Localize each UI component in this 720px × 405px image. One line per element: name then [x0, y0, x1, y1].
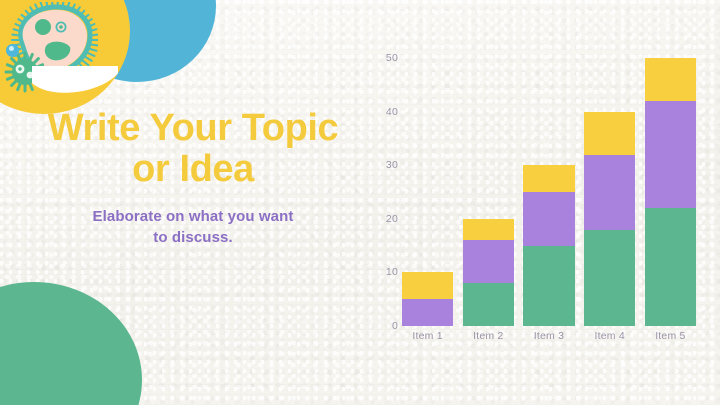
green-circle-decoration: [0, 282, 142, 405]
x-axis-tick-label: Item 2: [463, 330, 514, 342]
stacked-bar[interactable]: [645, 58, 696, 326]
stacked-bar[interactable]: [402, 272, 453, 326]
bar-column[interactable]: [645, 58, 696, 326]
x-axis-tick-label: Item 1: [402, 330, 453, 342]
slide-canvas: Write Your Topic or Idea Elaborate on wh…: [0, 0, 720, 405]
x-axis-tick-label: Item 5: [645, 330, 696, 342]
stacked-bar-chart: 01020304050 Item 1Item 2Item 3Item 4Item…: [372, 58, 702, 358]
title-line-1: Write Your Topic: [48, 107, 339, 149]
subtitle-line-2: to discuss.: [153, 229, 232, 246]
chart-x-axis: Item 1Item 2Item 3Item 4Item 5: [402, 330, 696, 342]
bar-segment[interactable]: [523, 192, 574, 246]
bar-segment[interactable]: [402, 272, 453, 299]
bar-segment[interactable]: [463, 219, 514, 240]
title-line-2: or Idea: [132, 148, 254, 190]
y-axis-tick-label: 20: [386, 213, 398, 225]
bar-segment[interactable]: [523, 246, 574, 326]
bar-segment[interactable]: [645, 208, 696, 326]
bar-segment[interactable]: [584, 230, 635, 326]
stacked-bar[interactable]: [584, 112, 635, 326]
x-axis-tick-label: Item 3: [523, 330, 574, 342]
y-axis-tick-label: 0: [392, 320, 398, 332]
y-axis-tick-label: 50: [386, 52, 398, 64]
small-blue-germ-icon: [6, 44, 19, 57]
page-subtitle: Elaborate on what you want to discuss.: [18, 206, 368, 249]
bar-segment[interactable]: [645, 101, 696, 208]
y-axis-tick-label: 10: [386, 266, 398, 278]
bar-column[interactable]: [463, 58, 514, 326]
white-smile-decoration: [32, 66, 118, 100]
stacked-bar[interactable]: [463, 219, 514, 326]
bar-segment[interactable]: [584, 155, 635, 230]
bar-column[interactable]: [584, 58, 635, 326]
chart-plot-area: [402, 58, 696, 326]
chart-y-axis: 01020304050: [372, 58, 398, 326]
y-axis-tick-label: 30: [386, 159, 398, 171]
text-content-block: Write Your Topic or Idea Elaborate on wh…: [18, 108, 368, 249]
bar-segment[interactable]: [463, 283, 514, 326]
page-title: Write Your Topic or Idea: [18, 108, 368, 190]
subtitle-line-1: Elaborate on what you want: [93, 208, 294, 225]
y-axis-tick-label: 40: [386, 106, 398, 118]
bar-segment[interactable]: [402, 299, 453, 326]
bar-column[interactable]: [402, 58, 453, 326]
x-axis-tick-label: Item 4: [584, 330, 635, 342]
bar-segment[interactable]: [584, 112, 635, 155]
bar-column[interactable]: [523, 58, 574, 326]
stacked-bar[interactable]: [523, 165, 574, 326]
bar-segment[interactable]: [645, 58, 696, 101]
bar-segment[interactable]: [523, 165, 574, 192]
bar-segment[interactable]: [463, 240, 514, 283]
